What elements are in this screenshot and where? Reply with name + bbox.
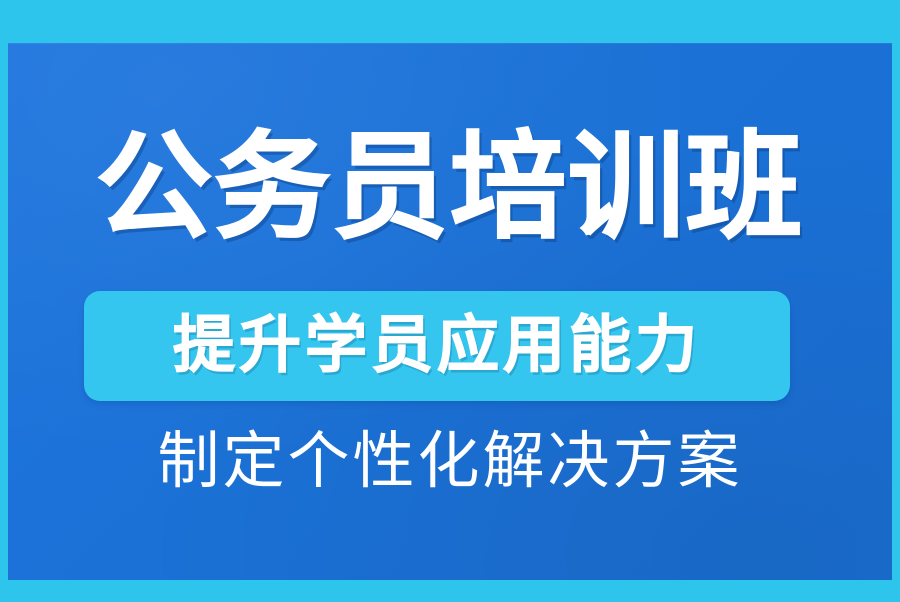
tagline: 制定个性化解决方案 xyxy=(8,428,892,496)
subtitle-badge-label: 提升学员应用能力 xyxy=(173,315,701,377)
poster-blue-panel: 公务员培训班 提升学员应用能力 制定个性化解决方案 xyxy=(8,43,892,580)
subtitle-badge: 提升学员应用能力 xyxy=(84,291,790,401)
poster-content: 公务员培训班 提升学员应用能力 制定个性化解决方案 xyxy=(8,43,892,580)
page-title: 公务员培训班 xyxy=(8,129,892,245)
poster-canvas: 公务员培训班 提升学员应用能力 制定个性化解决方案 xyxy=(0,0,900,602)
